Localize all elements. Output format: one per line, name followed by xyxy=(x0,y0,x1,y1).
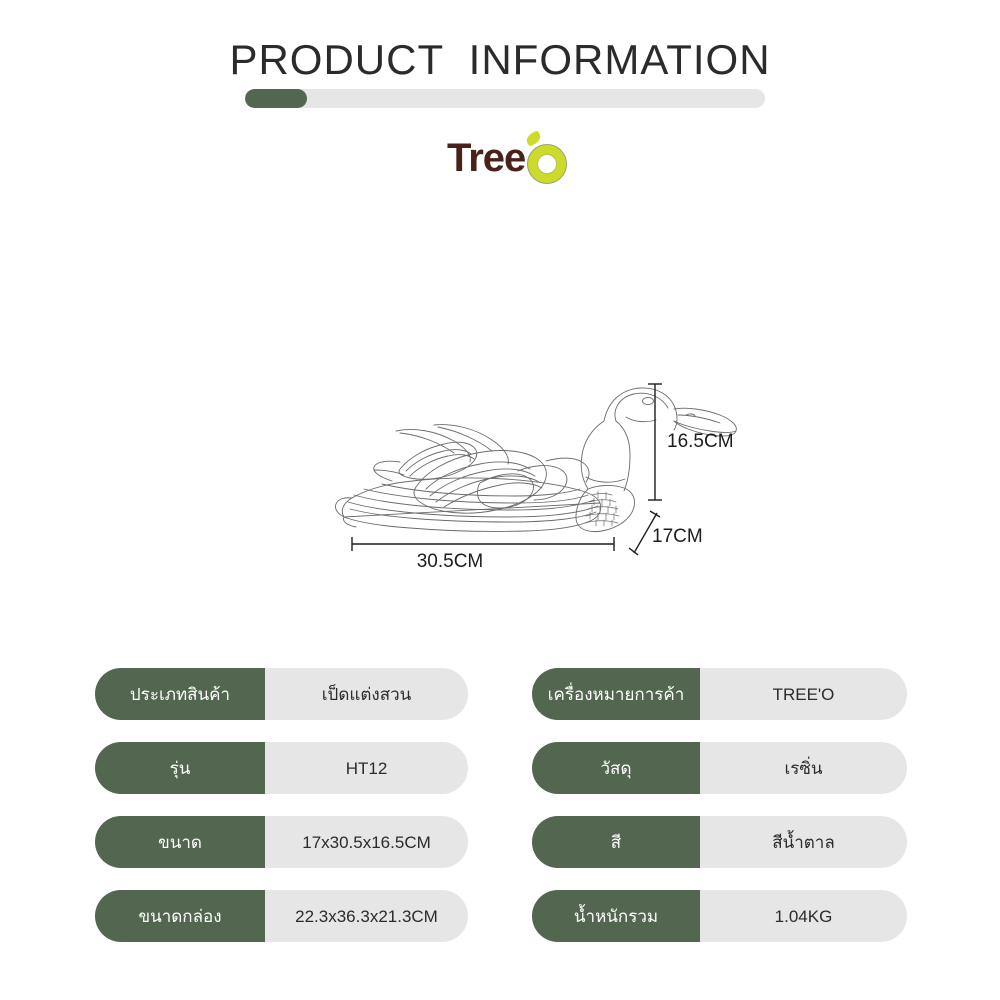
spec-key: ประเภทสินค้า xyxy=(95,668,265,720)
spec-key: น้ำหนักรวม xyxy=(532,890,700,942)
spec-row: สี สีน้ำตาล xyxy=(532,816,907,868)
product-information-page: PRODUCT INFORMATION Tree xyxy=(0,0,1000,1000)
spec-row: ขนาดกล่อง 22.3x36.3x21.3CM xyxy=(95,890,468,942)
spec-value: เป็ดแต่งสวน xyxy=(265,668,468,720)
spec-row: ขนาด 17x30.5x16.5CM xyxy=(95,816,468,868)
progress-bar-track xyxy=(245,89,765,108)
spec-key: สี xyxy=(532,816,700,868)
spec-key: รุ่น xyxy=(95,742,265,794)
spec-table-right: เครื่องหมายการค้า TREE'O วัสดุ เรซิ่น สี… xyxy=(532,668,907,942)
spec-row: น้ำหนักรวม 1.04KG xyxy=(532,890,907,942)
spec-value: 22.3x36.3x21.3CM xyxy=(265,890,468,942)
spec-row: รุ่น HT12 xyxy=(95,742,468,794)
spec-value: HT12 xyxy=(265,742,468,794)
spec-table-left: ประเภทสินค้า เป็ดแต่งสวน รุ่น HT12 ขนาด … xyxy=(95,668,468,942)
spec-value: 1.04KG xyxy=(700,890,907,942)
spec-key: วัสดุ xyxy=(532,742,700,794)
spec-value: TREE'O xyxy=(700,668,907,720)
spec-key: ขนาดกล่อง xyxy=(95,890,265,942)
progress-bar-fill xyxy=(245,89,307,108)
spec-row: วัสดุ เรซิ่น xyxy=(532,742,907,794)
dimension-label-width: 30.5CM xyxy=(417,551,484,573)
spec-key: เครื่องหมายการค้า xyxy=(532,668,700,720)
spec-row: เครื่องหมายการค้า TREE'O xyxy=(532,668,907,720)
brand-logo: Tree xyxy=(447,131,571,185)
brand-logo-mark xyxy=(525,131,571,185)
brand-logo-text: Tree xyxy=(447,131,525,185)
page-title: PRODUCT INFORMATION xyxy=(0,36,1000,84)
dimension-label-depth: 17CM xyxy=(652,526,703,548)
spec-key: ขนาด xyxy=(95,816,265,868)
spec-row: ประเภทสินค้า เป็ดแต่งสวน xyxy=(95,668,468,720)
dimension-label-height: 16.5CM xyxy=(667,431,734,453)
spec-value: เรซิ่น xyxy=(700,742,907,794)
spec-value: สีน้ำตาล xyxy=(700,816,907,868)
spec-value: 17x30.5x16.5CM xyxy=(265,816,468,868)
